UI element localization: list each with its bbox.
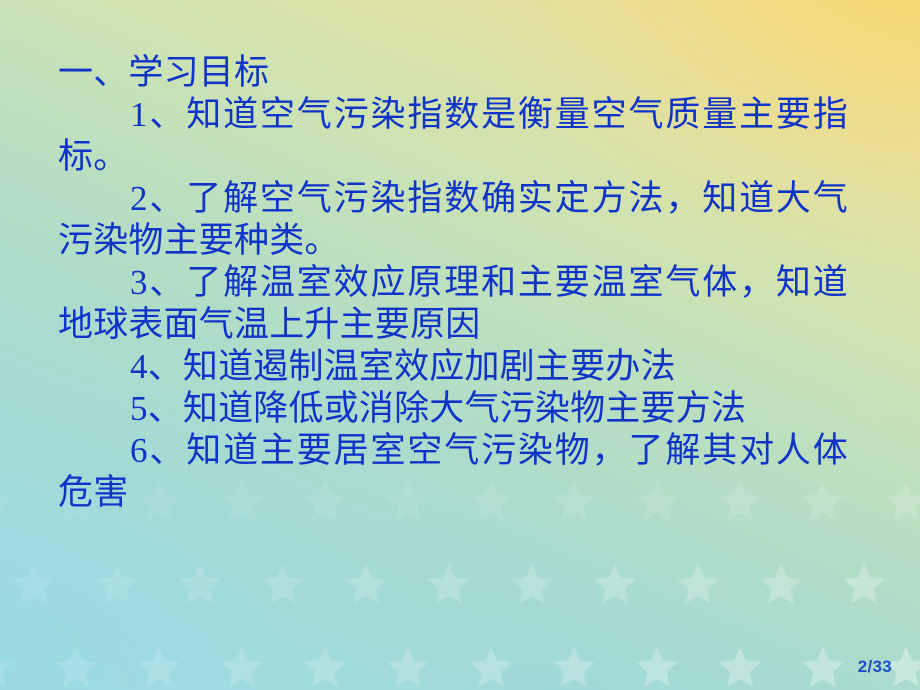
learning-goal-item: 5、知道降低或消除大气污染物主要方法	[58, 388, 848, 430]
learning-goal-item: 6、知道主要居室空气污染物，了解其对人体危害	[58, 430, 848, 514]
learning-goals-list: 1、知道空气污染指数是衡量空气质量主要指标。2、了解空气污染指数确实定方法，知道…	[58, 94, 848, 514]
slide-body: 一、学习目标 1、知道空气污染指数是衡量空气质量主要指标。2、了解空气污染指数确…	[58, 52, 848, 514]
learning-goal-item: 3、了解温室效应原理和主要温室气体，知道地球表面气温上升主要原因	[58, 262, 848, 346]
learning-goal-item: 1、知道空气污染指数是衡量空气质量主要指标。	[58, 94, 848, 178]
learning-goal-item: 2、了解空气污染指数确实定方法，知道大气污染物主要种类。	[58, 178, 848, 262]
learning-goal-item: 4、知道遏制温室效应加剧主要办法	[58, 346, 848, 388]
slide-canvas: 一、学习目标 1、知道空气污染指数是衡量空气质量主要指标。2、了解空气污染指数确…	[0, 0, 920, 690]
page-title: 一、学习目标	[58, 52, 848, 94]
page-number: 2/33	[858, 657, 892, 677]
